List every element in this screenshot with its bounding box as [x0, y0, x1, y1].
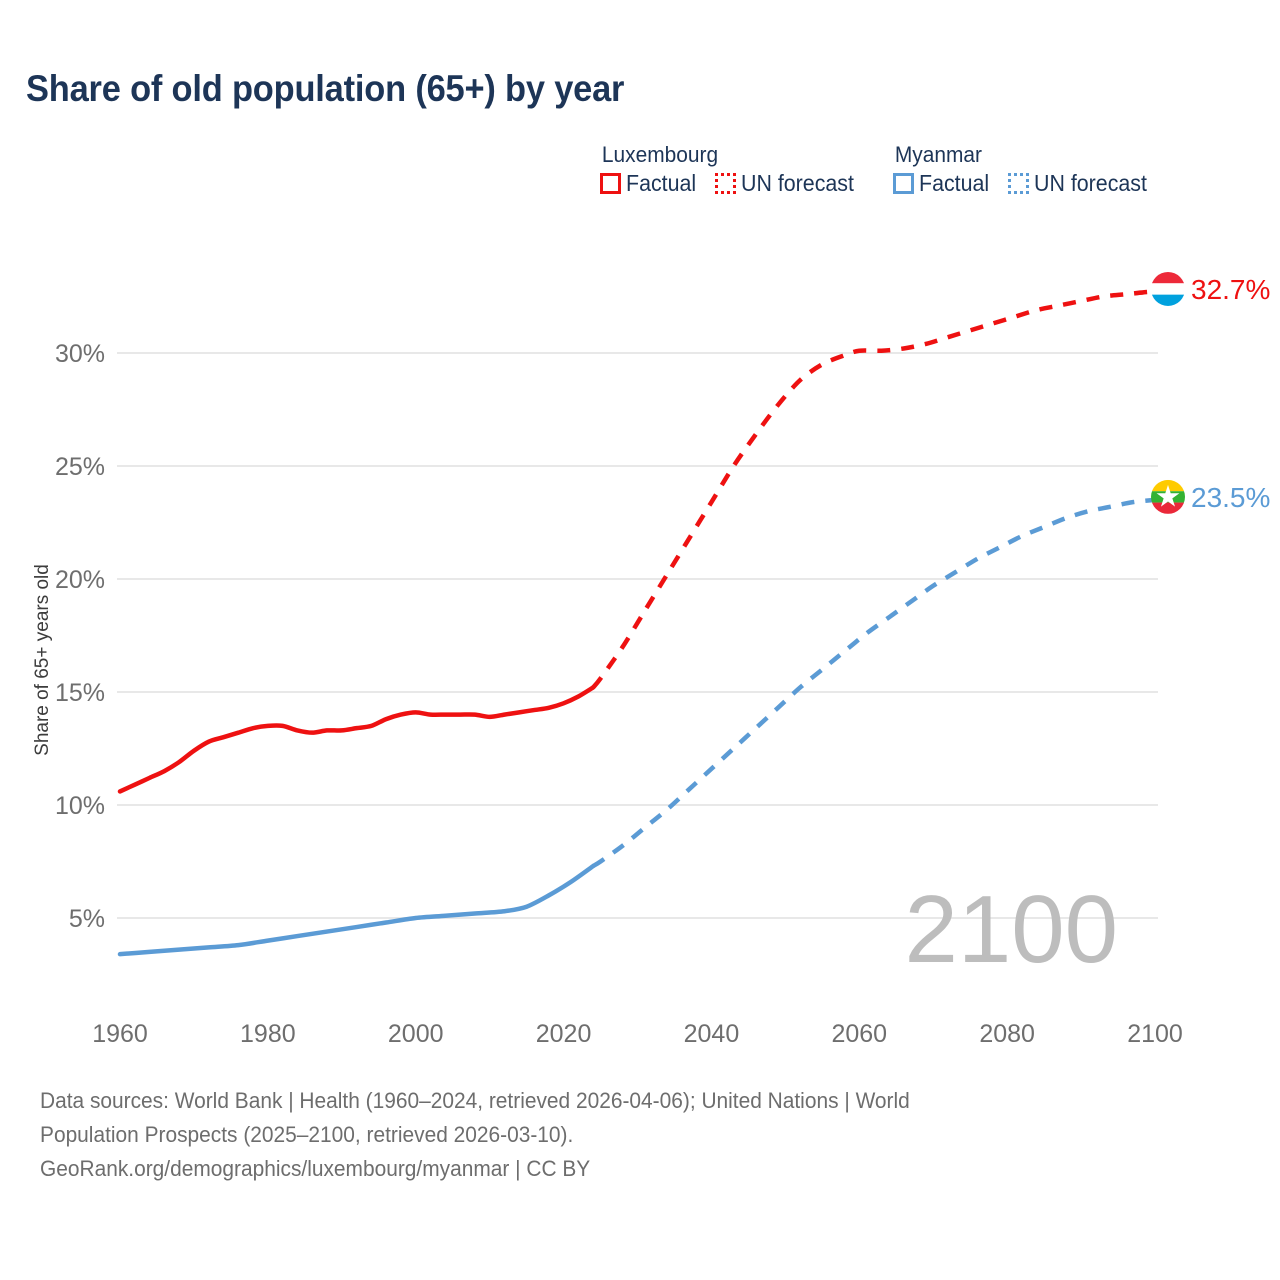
- x-axis-tick-label: 1980: [240, 1020, 296, 1048]
- y-axis-tick-labels: 5%10%15%20%25%30%: [55, 340, 105, 933]
- footer-line-1: Data sources: World Bank | Health (1960–…: [40, 1084, 1180, 1118]
- x-axis-tick-label: 2000: [388, 1020, 444, 1048]
- footer-line-3: GeoRank.org/demographics/luxembourg/myan…: [40, 1152, 1180, 1186]
- y-axis-title: Share of 65+ years old: [32, 564, 53, 756]
- line-luxembourg-factual: [120, 687, 593, 791]
- x-axis-tick-labels: 19601980200020202040206020802100: [92, 1020, 1183, 1048]
- x-axis-tick-label: 1960: [92, 1020, 148, 1048]
- footer-line-2: Population Prospects (2025–2100, retriev…: [40, 1118, 1180, 1152]
- footer-sources: Data sources: World Bank | Health (1960–…: [40, 1084, 1240, 1186]
- y-axis-tick-label: 25%: [55, 453, 105, 481]
- y-axis-tick-label: 20%: [55, 566, 105, 594]
- myanmar-flag-icon: [1151, 480, 1185, 514]
- x-axis-tick-label: 2020: [536, 1020, 592, 1048]
- endpoint-value-luxembourg: 32.7%: [1191, 274, 1270, 305]
- y-axis-tick-label: 10%: [55, 792, 105, 820]
- endpoint-value-myanmar: 23.5%: [1191, 482, 1270, 513]
- x-axis-tick-label: 2040: [684, 1020, 740, 1048]
- watermark-year: 2100: [904, 876, 1118, 983]
- plot-area: 5%10%15%20%25%30% 1960198020002020204020…: [0, 0, 1280, 1070]
- line-myanmar-factual: [120, 866, 593, 954]
- y-axis-tick-label: 30%: [55, 340, 105, 368]
- y-axis-tick-label: 5%: [69, 905, 105, 933]
- chart-root: Share of old population (65+) by year Lu…: [0, 0, 1280, 1280]
- line-myanmar-forecast: [593, 500, 1155, 866]
- data-series-layer: [120, 292, 1155, 954]
- x-axis-tick-label: 2100: [1127, 1020, 1183, 1048]
- x-axis-tick-label: 2060: [831, 1020, 887, 1048]
- luxembourg-flag-icon: [1151, 272, 1185, 306]
- endpoint-marker-luxembourg: 32.7%: [1151, 272, 1270, 306]
- x-axis-tick-label: 2080: [979, 1020, 1035, 1048]
- y-axis-tick-label: 15%: [55, 679, 105, 707]
- endpoint-marker-myanmar: 23.5%: [1151, 480, 1270, 514]
